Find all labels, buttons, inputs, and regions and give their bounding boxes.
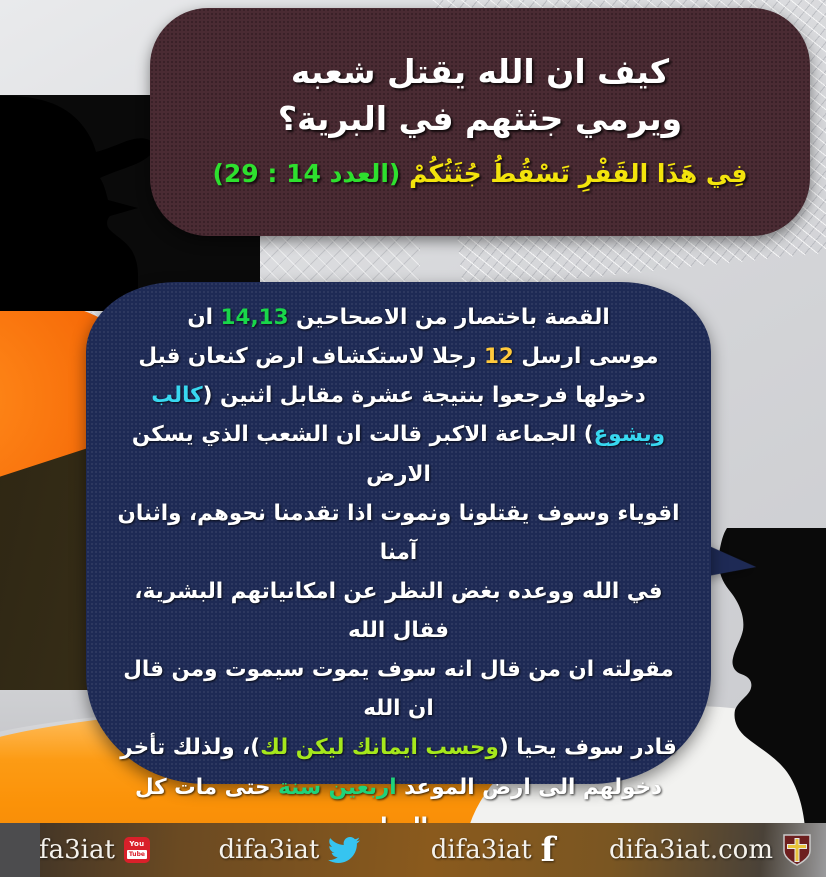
body-highlight-text: 12	[484, 344, 514, 369]
body-highlight-text: 14,13	[221, 305, 289, 330]
body-line: موسى ارسل 12 رجلا لاستكشاف ارض كنعان قبل	[116, 337, 681, 376]
body-speech-bubble: القصة باختصار من الاصحاحين 14,13 انموسى …	[86, 282, 711, 784]
body-line: القصة باختصار من الاصحاحين 14,13 ان	[116, 298, 681, 337]
body-plain-text: ) الجماعة الاكبر قالت ان الشعب الذي يسكن…	[132, 422, 594, 486]
poster-canvas: كيف ان الله يقتل شعبه ويرمي جثثهم في الب…	[0, 0, 826, 877]
body-plain-text: دخولهم الى ارض الموعد	[397, 775, 662, 800]
body-highlight-text: وحسب ايمانك ليكن لك	[260, 735, 499, 760]
body-line: ويشوع) الجماعة الاكبر قالت ان الشعب الذي…	[116, 415, 681, 493]
title-speech-bubble: كيف ان الله يقتل شعبه ويرمي جثثهم في الب…	[150, 8, 810, 236]
body-plain-text: موسى ارسل	[514, 344, 659, 369]
footer-item-facebook[interactable]: f difa3iat	[431, 833, 556, 867]
body-plain-text: في الله ووعده بغض النظر عن امكانياتهم ال…	[134, 579, 662, 643]
body-highlight-text: ويشوع	[594, 422, 665, 447]
body-line: اقوياء وسوف يقتلونا ونموت اذا تقدمنا نحو…	[116, 494, 681, 572]
facebook-icon: f	[541, 833, 556, 867]
youtube-icon-top-text: You	[129, 841, 144, 848]
body-plain-text: قادر سوف يحيا (	[499, 735, 677, 760]
verse-reference: (العدد 14 : 29)	[212, 159, 400, 188]
footer-bar: difa3iat.com f difa3iat difa3iat You Tub…	[0, 823, 826, 877]
body-line: قادر سوف يحيا (وحسب ايمانك ليكن لك)، ولذ…	[116, 728, 681, 767]
verse-text: فِي هَذَا القَفْرِ تَسْقُطُ جُثَثُكُمْ	[409, 159, 747, 188]
verse-citation: فِي هَذَا القَفْرِ تَسْقُطُ جُثَثُكُمْ (…	[212, 156, 747, 191]
footer-left-block	[0, 823, 40, 877]
body-plain-text: مقولته ان من قال انه سوف يموت سيموت ومن …	[123, 657, 674, 721]
footer-label-facebook: difa3iat	[431, 835, 532, 865]
twitter-icon	[328, 837, 360, 864]
body-plain-text: دخولها فرجعوا بنتيجة عشرة مقابل اثنين (	[203, 383, 646, 408]
body-highlight-text: كالب	[151, 383, 202, 408]
footer-item-twitter[interactable]: difa3iat	[218, 835, 360, 865]
body-line: مقولته ان من قال انه سوف يموت سيموت ومن …	[116, 650, 681, 728]
body-line: دخولها فرجعوا بنتيجة عشرة مقابل اثنين (ك…	[116, 376, 681, 415]
body-line: في الله ووعده بغض النظر عن امكانياتهم ال…	[116, 572, 681, 650]
shield-cross-icon	[782, 833, 812, 867]
body-paragraph: القصة باختصار من الاصحاحين 14,13 انموسى …	[116, 298, 681, 877]
body-plain-text: ان	[187, 305, 220, 330]
title-line-1: كيف ان الله يقتل شعبه	[291, 49, 669, 96]
footer-item-website[interactable]: difa3iat.com	[609, 833, 812, 867]
body-plain-text: القصة باختصار من الاصحاحين	[289, 305, 610, 330]
footer-label-website: difa3iat.com	[609, 835, 773, 865]
body-highlight-text: اربعين سنة	[278, 775, 397, 800]
youtube-icon: You Tube	[124, 837, 150, 863]
title-line-2: ويرمي جثثهم في البرية؟	[278, 96, 682, 143]
body-plain-text: رجلا لاستكشاف ارض كنعان قبل	[138, 344, 484, 369]
youtube-icon-bottom-text: Tube	[127, 850, 147, 859]
body-plain-text: اقوياء وسوف يقتلونا ونموت اذا تقدمنا نحو…	[118, 501, 680, 565]
footer-label-twitter: difa3iat	[218, 835, 319, 865]
body-plain-text: )، ولذلك تأخر	[120, 735, 260, 760]
